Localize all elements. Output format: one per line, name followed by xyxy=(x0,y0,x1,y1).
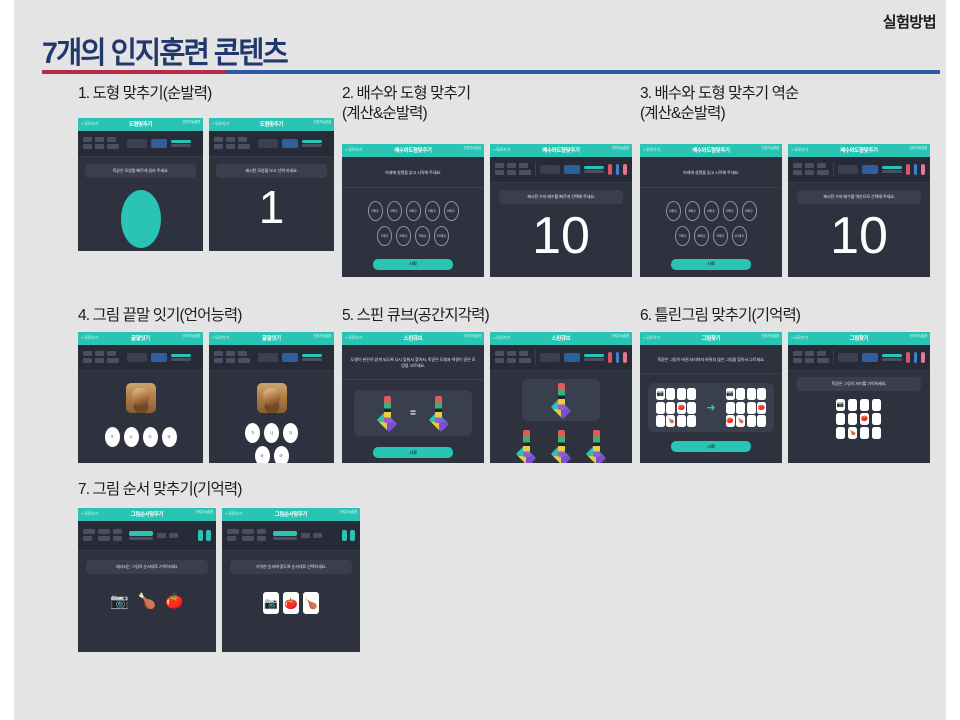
grid-cell[interactable]: 🍅 xyxy=(726,415,735,427)
toolbar-timer xyxy=(862,165,878,174)
picture-grid[interactable]: 📷 🍅 🍅 🍗 xyxy=(726,388,767,427)
back-button[interactable]: < 뒤로가기 xyxy=(81,335,98,341)
toolbar-chip[interactable] xyxy=(313,533,322,538)
app-screenshot: < 뒤로가기 스핀큐브 인지기능훈련 도형이 완전히 같게 되도록 다시 맞춰서… xyxy=(342,332,484,463)
grid-cell[interactable]: 📷 xyxy=(836,399,845,411)
slider-label xyxy=(302,358,322,361)
app-toolbar xyxy=(490,345,632,371)
toolbar-readout xyxy=(540,353,560,362)
toolbar-chip[interactable] xyxy=(507,351,516,356)
toolbar-chip[interactable] xyxy=(98,536,110,541)
toolbar-slider[interactable] xyxy=(882,166,902,173)
option-row-bottom: 라 마 xyxy=(209,446,334,463)
app-body: 가 나 다 라 xyxy=(78,383,203,447)
app-body: 제시된 모양을 보고 선택 하세요. 1 xyxy=(209,164,334,230)
grid-cell[interactable] xyxy=(736,388,745,400)
toolbar-chip[interactable] xyxy=(214,358,223,363)
option-oval[interactable]: 6배수 xyxy=(444,201,459,221)
toolbar-chip[interactable] xyxy=(107,144,119,149)
person-icon xyxy=(198,530,203,541)
back-button[interactable]: < 뒤로가기 xyxy=(225,511,242,517)
content-item-3: 3. 배수와 도형 맞추기 역순 (계산&순발력) < 뒤로가기 배수와도형맞추… xyxy=(640,84,930,277)
option-oval[interactable]: 3배수 xyxy=(387,201,402,221)
toolbar-chip[interactable] xyxy=(83,536,92,541)
slider-label xyxy=(171,144,191,147)
app-screenshot: < 뒤로가기 그림순서맞추기 인지기능훈련 xyxy=(78,508,216,652)
item-caption: 4. 그림 끝말 잇기(언어능력) xyxy=(78,306,334,326)
person-icon xyxy=(616,164,620,175)
app-body: 똑같은 그림이 자리를 기억하세요. 📷 🍅 xyxy=(788,377,930,439)
option-oval[interactable]: 9배수 xyxy=(415,226,430,246)
person-icon xyxy=(350,530,355,541)
app-body: 똑같은 모양을 빠르게 골라 주세요. xyxy=(78,164,203,248)
toolbar-chip[interactable] xyxy=(817,358,829,363)
grid-cell[interactable] xyxy=(687,415,696,427)
toolbar-chip[interactable] xyxy=(507,170,516,175)
toolbar-chip[interactable] xyxy=(83,137,92,142)
grid-cell[interactable] xyxy=(747,415,756,427)
grid-cell[interactable] xyxy=(677,388,686,400)
toolbar-chip-group[interactable] xyxy=(83,351,119,363)
grid-cell[interactable]: 🍗 xyxy=(848,427,857,439)
screenshot-pair: < 뒤로가기 그림순서맞추기 인지기능훈련 xyxy=(78,508,368,652)
toolbar-chip[interactable] xyxy=(507,163,516,168)
picture-item[interactable]: 🍅 xyxy=(165,594,184,609)
toolbar-slider[interactable] xyxy=(273,531,297,540)
app-titlebar: < 뒤로가기 스핀큐브 인지기능훈련 xyxy=(490,332,632,345)
grid-cell[interactable] xyxy=(687,402,696,414)
app-toolbar xyxy=(78,131,203,157)
toolbar-chip[interactable] xyxy=(793,358,802,363)
toolbar-slider[interactable] xyxy=(129,531,153,540)
app-brand-label: 인지기능훈련 xyxy=(611,145,629,150)
toolbar-timer xyxy=(151,139,167,148)
toolbar-chip[interactable] xyxy=(257,529,266,534)
grid-cell[interactable]: 🍅 xyxy=(677,402,686,414)
slider-track[interactable] xyxy=(882,166,902,169)
toolbar-chip[interactable] xyxy=(169,533,178,538)
slider-label xyxy=(882,170,902,173)
toolbar-chip-group[interactable] xyxy=(793,351,829,363)
screenshot-pair: < 뒤로가기 도형맞추기 인지기능훈련 xyxy=(78,118,334,251)
grid-cell[interactable] xyxy=(872,427,881,439)
grid-cell[interactable] xyxy=(872,399,881,411)
picture-card[interactable]: 🍗 xyxy=(303,592,319,614)
heart-icon xyxy=(906,164,910,175)
option-oval[interactable]: 3배수 xyxy=(685,201,700,221)
grid-cell[interactable] xyxy=(656,402,665,414)
picture-card[interactable]: 📷 xyxy=(263,592,279,614)
toolbar-chip[interactable] xyxy=(107,137,116,142)
toolbar-timer xyxy=(862,353,878,362)
toolbar-slider[interactable] xyxy=(171,354,191,361)
back-button[interactable]: < 뒤로가기 xyxy=(212,121,229,127)
toolbar-slider[interactable] xyxy=(584,166,604,173)
screenshot-pair: < 뒤로가기 배수와도형맞추기 인지기능훈련 아래에 설명을 읽고 시작해 주세… xyxy=(342,144,632,277)
option-oval[interactable]: 다 xyxy=(143,427,158,447)
toolbar-chip[interactable] xyxy=(519,163,528,168)
back-button[interactable]: < 뒤로가기 xyxy=(791,335,808,341)
picture-item[interactable]: 🍗 xyxy=(138,594,157,609)
grid-cell[interactable] xyxy=(860,427,869,439)
toolbar-chip[interactable] xyxy=(238,351,247,356)
app-titlebar: < 뒤로가기 그림순서맞추기 인지기능훈련 xyxy=(78,508,216,521)
toolbar-slider[interactable] xyxy=(584,354,604,361)
app-screenshot: < 뒤로가기 도형맞추기 인지기능훈련 xyxy=(78,118,203,251)
back-button[interactable]: < 뒤로가기 xyxy=(81,511,98,517)
toolbar-chip-group[interactable] xyxy=(83,137,119,149)
slider-track[interactable] xyxy=(882,354,902,357)
item-caption: 5. 스핀 큐브(공간지각력) xyxy=(342,306,632,326)
back-button[interactable]: < 뒤로가기 xyxy=(212,335,229,341)
option-row-bottom: 7배수 8배수 9배수 10배수 xyxy=(342,226,484,246)
slide: 실험방법 7개의 인지훈련 콘텐츠 1. 도형 맞추기(순발력) < 뒤로가기 … xyxy=(0,0,960,720)
toolbar-chip[interactable] xyxy=(83,529,95,534)
item-caption: 2. 배수와 도형 맞추기 (계산&순발력) xyxy=(342,84,632,124)
spin-cube-icon[interactable] xyxy=(374,396,400,430)
spin-cube-icon[interactable] xyxy=(513,430,539,463)
app-screenshot: < 뒤로가기 배수와도형맞추기 인지기능훈련 xyxy=(788,144,930,277)
toolbar-chip[interactable] xyxy=(793,163,802,168)
toolbar-chip[interactable] xyxy=(805,170,814,175)
toolbar-chip[interactable] xyxy=(238,144,250,149)
cube-stack xyxy=(593,430,600,457)
toolbar-chip[interactable] xyxy=(495,170,504,175)
app-brand-label: 인지기능훈련 xyxy=(182,119,200,124)
start-button[interactable]: 시작 xyxy=(671,259,751,270)
slider-track[interactable] xyxy=(273,531,297,536)
divider xyxy=(342,187,484,188)
app-screenshot: < 뒤로가기 그림찾기 인지기능훈련 똑같은 그림이 바뀐 자리까지 바뀌지 않… xyxy=(640,332,782,463)
grid-cell[interactable] xyxy=(757,388,766,400)
toolbar-chip[interactable] xyxy=(793,351,802,356)
toolbar-chip[interactable] xyxy=(157,533,166,538)
slider-track[interactable] xyxy=(171,140,191,143)
content-item-4: 4. 그림 끝말 잇기(언어능력) < 뒤로가기 끝말잇기 인지기능훈련 xyxy=(78,306,334,463)
shape-ellipse[interactable] xyxy=(121,190,161,248)
title-underline-blue xyxy=(225,70,940,74)
toolbar-chip-group[interactable] xyxy=(495,163,531,175)
cube-choice-row xyxy=(490,430,632,463)
toolbar-readout xyxy=(127,353,147,362)
toolbar-chip[interactable] xyxy=(113,536,122,541)
toolbar-chip[interactable] xyxy=(226,144,235,149)
toolbar-chip[interactable] xyxy=(95,137,104,142)
grid-cell[interactable] xyxy=(848,399,857,411)
comparison-panel: 📷 🍅 🍗 xyxy=(648,383,774,432)
grid-cell[interactable] xyxy=(677,415,686,427)
toolbar-chip[interactable] xyxy=(113,529,122,534)
option-oval[interactable]: 5배수 xyxy=(425,201,440,221)
person-icon xyxy=(342,530,347,541)
toolbar-chip[interactable] xyxy=(107,358,119,363)
toolbar-chip-group[interactable] xyxy=(301,533,322,538)
toolbar-chip[interactable] xyxy=(107,351,116,356)
picture-card[interactable]: 🍅 xyxy=(283,592,299,614)
toolbar-chip[interactable] xyxy=(83,351,92,356)
toolbar-chip[interactable] xyxy=(519,358,531,363)
arrow-right-icon: ➜ xyxy=(706,401,715,414)
instruction-text: 도형이 완전히 같게 되도록 다시 맞춰서 찾아서, 똑같은 도형과 색깔이 같… xyxy=(342,353,484,374)
spin-cube-icon[interactable] xyxy=(583,430,609,463)
toolbar-chip[interactable] xyxy=(507,358,516,363)
toolbar-chip[interactable] xyxy=(257,536,266,541)
grid-cell[interactable]: 📷 xyxy=(726,388,735,400)
option-oval[interactable]: 10배수 xyxy=(434,226,449,246)
big-number: 1 xyxy=(209,184,334,230)
toolbar-chip[interactable] xyxy=(214,351,223,356)
person-icon xyxy=(616,352,620,363)
toolbar-chip[interactable] xyxy=(519,351,528,356)
option-oval[interactable]: 가 xyxy=(105,427,120,447)
toolbar-chip[interactable] xyxy=(817,351,826,356)
toolbar-chip[interactable] xyxy=(238,137,247,142)
toolbar-slider[interactable] xyxy=(171,140,191,147)
cube-stack xyxy=(523,430,530,457)
toolbar-chip[interactable] xyxy=(238,358,250,363)
option-oval[interactable]: 나 xyxy=(264,423,279,443)
equals-icon: = xyxy=(410,408,416,419)
option-oval[interactable]: 8배수 xyxy=(396,226,411,246)
toolbar-chip[interactable] xyxy=(519,170,531,175)
screenshot-pair: < 뒤로가기 스핀큐브 인지기능훈련 도형이 완전히 같게 되도록 다시 맞춰서… xyxy=(342,332,632,463)
option-oval[interactable]: 라 xyxy=(255,446,270,463)
picture-item[interactable]: 📷 xyxy=(110,594,129,609)
instruction-text: 똑같은 그림이 자리를 기억하세요. xyxy=(797,377,922,391)
slider-label xyxy=(584,170,604,173)
toolbar-chip[interactable] xyxy=(495,351,504,356)
content-item-7: 7. 그림 순서 맞추기(기억력) < 뒤로가기 그림순서맞추기 인지기능훈련 xyxy=(78,480,368,652)
instruction-text: 제시된 수의 배수를 역순으로 선택해 주세요. xyxy=(797,190,922,204)
toolbar-chip[interactable] xyxy=(793,170,802,175)
back-button[interactable]: < 뒤로가기 xyxy=(791,147,808,153)
slider-label xyxy=(302,144,322,147)
spin-cube-icon[interactable] xyxy=(548,430,574,463)
person-icon xyxy=(914,164,918,175)
back-button[interactable]: < 뒤로가기 xyxy=(643,147,660,153)
grid-cell[interactable] xyxy=(666,402,675,414)
slide-kicker: 실험방법 xyxy=(883,11,936,32)
toolbar-readout xyxy=(838,353,858,362)
screenshot-pair: < 뒤로가기 끝말잇기 인지기능훈련 xyxy=(78,332,334,463)
slider-track[interactable] xyxy=(302,140,322,143)
person-icon xyxy=(623,352,627,363)
person-icon xyxy=(921,352,925,363)
slider-track[interactable] xyxy=(129,531,153,536)
title-underline-red xyxy=(42,70,225,74)
grid-cell[interactable] xyxy=(860,399,869,411)
app-toolbar xyxy=(78,345,203,371)
app-body: 제시되는 그림의 순서대로 기억하세요. 📷 🍗 🍅 xyxy=(78,560,216,609)
app-screenshot: < 뒤로가기 도형맞추기 인지기능훈련 xyxy=(209,118,334,251)
toolbar-chip[interactable] xyxy=(301,533,310,538)
grid-cell[interactable] xyxy=(836,413,845,425)
picture-card xyxy=(126,383,156,413)
option-oval[interactable]: 라 xyxy=(162,427,177,447)
option-oval[interactable]: 가 xyxy=(245,423,260,443)
content-item-6: 6. 틀린그림 맞추기(기억력) < 뒤로가기 그림찾기 인지기능훈련 똑같은 … xyxy=(640,306,930,463)
slider-track[interactable] xyxy=(584,354,604,357)
toolbar-chip[interactable] xyxy=(226,351,235,356)
option-row-top: 가 나 다 라 xyxy=(78,427,203,447)
toolbar-chip[interactable] xyxy=(214,137,223,142)
option-oval[interactable]: 7배수 xyxy=(675,226,690,246)
instruction-text: 똑같은 그림이 바뀐 자리까지 바뀌지 않은 그림을 찾아서 고르세요. xyxy=(640,353,782,367)
toolbar-chip-group[interactable] xyxy=(495,351,531,363)
toolbar-chip[interactable] xyxy=(83,144,92,149)
option-oval[interactable]: 2배수 xyxy=(666,201,681,221)
app-body: 아래에 설명을 읽고 시작해 주세요. 2배수 3배수 4배수 5배수 6배수 … xyxy=(342,166,484,270)
item-caption: 3. 배수와 도형 맞추기 역순 (계산&순발력) xyxy=(640,84,930,124)
toolbar-chip[interactable] xyxy=(98,529,110,534)
app-brand-label: 인지기능훈련 xyxy=(909,333,927,338)
grid-cell[interactable] xyxy=(872,413,881,425)
grid-cell[interactable]: 🍅 xyxy=(860,413,869,425)
item-caption: 6. 틀린그림 맞추기(기억력) xyxy=(640,306,930,326)
slider-track[interactable] xyxy=(302,354,322,357)
grid-cell[interactable] xyxy=(747,388,756,400)
app-titlebar: < 뒤로가기 끝말잇기 인지기능훈련 xyxy=(209,332,334,345)
back-button[interactable]: < 뒤로가기 xyxy=(345,147,362,153)
option-row-top: 2배수 3배수 4배수 5배수 6배수 xyxy=(640,201,782,221)
back-button[interactable]: < 뒤로가기 xyxy=(345,335,362,341)
toolbar-chip[interactable] xyxy=(214,144,223,149)
app-body xyxy=(490,379,632,463)
option-oval[interactable]: 9배수 xyxy=(713,226,728,246)
app-body: 제시된 수의 배수를 역순으로 선택해 주세요. 10 xyxy=(788,190,930,262)
toolbar-chip-group[interactable] xyxy=(157,533,178,538)
toolbar-timer xyxy=(564,165,580,174)
grid-cell[interactable] xyxy=(666,388,675,400)
content-board: 1. 도형 맞추기(순발력) < 뒤로가기 도형맞추기 인지기능훈련 xyxy=(14,84,946,684)
slider-label xyxy=(584,358,604,361)
option-oval[interactable]: 8배수 xyxy=(694,226,709,246)
app-body: 제시된 수의 배수를 빠르게 선택해 주세요. 10 xyxy=(490,190,632,262)
app-screenshot: < 뒤로가기 배수와도형맞추기 인지기능훈련 아래에 설명을 읽고 시작해 주세… xyxy=(640,144,782,277)
option-oval[interactable]: 마 xyxy=(274,446,289,463)
grid-cell[interactable] xyxy=(747,402,756,414)
toolbar-chip[interactable] xyxy=(495,358,504,363)
option-oval[interactable]: 4배수 xyxy=(704,201,719,221)
option-oval[interactable]: 5배수 xyxy=(723,201,738,221)
app-brand-label: 인지기능훈련 xyxy=(761,333,779,338)
start-button[interactable]: 시작 xyxy=(671,441,751,452)
grid-cell[interactable] xyxy=(836,427,845,439)
option-oval[interactable]: 10배수 xyxy=(732,226,747,246)
cube-stack xyxy=(384,396,391,423)
grid-cell[interactable] xyxy=(687,388,696,400)
app-brand-label: 인지기능훈련 xyxy=(313,119,331,124)
option-oval[interactable]: 다 xyxy=(283,423,298,443)
toolbar-chip[interactable] xyxy=(83,358,92,363)
toolbar-chip[interactable] xyxy=(805,358,814,363)
spin-cube-icon[interactable] xyxy=(426,396,452,430)
person-icon xyxy=(206,530,211,541)
start-button[interactable]: 시작 xyxy=(373,447,453,458)
toolbar-chip[interactable] xyxy=(227,529,239,534)
app-toolbar xyxy=(490,157,632,183)
title-underline xyxy=(42,70,940,74)
app-screenshot: < 뒤로가기 그림찾기 인지기능훈련 xyxy=(788,332,930,463)
slider-track[interactable] xyxy=(584,166,604,169)
toolbar-chip-group[interactable] xyxy=(214,351,250,363)
heart-icon xyxy=(608,352,612,363)
grid-cell[interactable] xyxy=(757,415,766,427)
option-oval[interactable]: 7배수 xyxy=(377,226,392,246)
toolbar-divider xyxy=(833,350,834,364)
grid-cell[interactable] xyxy=(848,413,857,425)
option-oval[interactable]: 2배수 xyxy=(368,201,383,221)
toolbar-slider[interactable] xyxy=(302,354,322,361)
picture-grid[interactable]: 📷 🍅 🍗 xyxy=(656,388,697,427)
picture-grid[interactable]: 📷 🍅 🍗 xyxy=(836,399,882,439)
toolbar-chip-group[interactable] xyxy=(83,529,125,541)
option-oval[interactable]: 6배수 xyxy=(742,201,757,221)
app-toolbar xyxy=(788,345,930,371)
toolbar-chip[interactable] xyxy=(817,163,826,168)
toolbar-chip[interactable] xyxy=(495,163,504,168)
toolbar-timer xyxy=(151,353,167,362)
toolbar-chip[interactable] xyxy=(226,358,235,363)
toolbar-chip[interactable] xyxy=(805,351,814,356)
picture-choice-row: 📷 🍅 🍗 xyxy=(222,592,360,614)
option-oval[interactable]: 4배수 xyxy=(406,201,421,221)
grid-cell[interactable]: 🍗 xyxy=(736,415,745,427)
grid-cell[interactable]: 🍗 xyxy=(666,415,675,427)
grid-cell[interactable] xyxy=(726,402,735,414)
start-button[interactable]: 시작 xyxy=(373,259,453,270)
toolbar-chip[interactable] xyxy=(817,170,829,175)
option-oval[interactable]: 나 xyxy=(124,427,139,447)
back-button[interactable]: < 뒤로가기 xyxy=(643,335,660,341)
instruction-text: 기억한 순서에 맞도록 순서대로 선택하세요. xyxy=(230,560,352,574)
app-titlebar: < 뒤로가기 끝말잇기 인지기능훈련 xyxy=(78,332,203,345)
picture-sequence: 📷 🍗 🍅 xyxy=(78,594,216,609)
picture-card xyxy=(257,383,287,413)
toolbar-chip[interactable] xyxy=(226,137,235,142)
toolbar-chip-group[interactable] xyxy=(227,529,269,541)
page-title: 7개의 인지훈련 콘텐츠 xyxy=(42,28,287,72)
grid-cell[interactable]: 🍅 xyxy=(757,402,766,414)
grid-cell[interactable] xyxy=(736,402,745,414)
app-screenshot: < 뒤로가기 스핀큐브 인지기능훈련 xyxy=(490,332,632,463)
toolbar-chip[interactable] xyxy=(95,351,104,356)
app-screenshot: < 뒤로가기 그림순서맞추기 인지기능훈련 xyxy=(222,508,360,652)
app-body: 가 나 다 라 마 xyxy=(209,383,334,463)
toolbar-chip[interactable] xyxy=(242,529,254,534)
cube-stack xyxy=(435,396,442,423)
toolbar-chip[interactable] xyxy=(242,536,254,541)
back-button[interactable]: < 뒤로가기 xyxy=(493,147,510,153)
toolbar-chip[interactable] xyxy=(805,163,814,168)
slider-track[interactable] xyxy=(171,354,191,357)
toolbar-slider[interactable] xyxy=(882,354,902,361)
grid-cell[interactable] xyxy=(656,415,665,427)
toolbar-chip[interactable] xyxy=(95,144,104,149)
heart-icon xyxy=(906,352,910,363)
toolbar-slider[interactable] xyxy=(302,140,322,147)
spin-cube-icon xyxy=(548,383,574,417)
back-button[interactable]: < 뒤로가기 xyxy=(81,121,98,127)
toolbar-chip[interactable] xyxy=(95,358,104,363)
toolbar-chip-group[interactable] xyxy=(214,137,250,149)
big-number: 10 xyxy=(490,210,632,262)
toolbar-chip-group[interactable] xyxy=(793,163,829,175)
toolbar-timer xyxy=(564,353,580,362)
toolbar-chip[interactable] xyxy=(227,536,236,541)
grid-cell[interactable]: 📷 xyxy=(656,388,665,400)
back-button[interactable]: < 뒤로가기 xyxy=(493,335,510,341)
